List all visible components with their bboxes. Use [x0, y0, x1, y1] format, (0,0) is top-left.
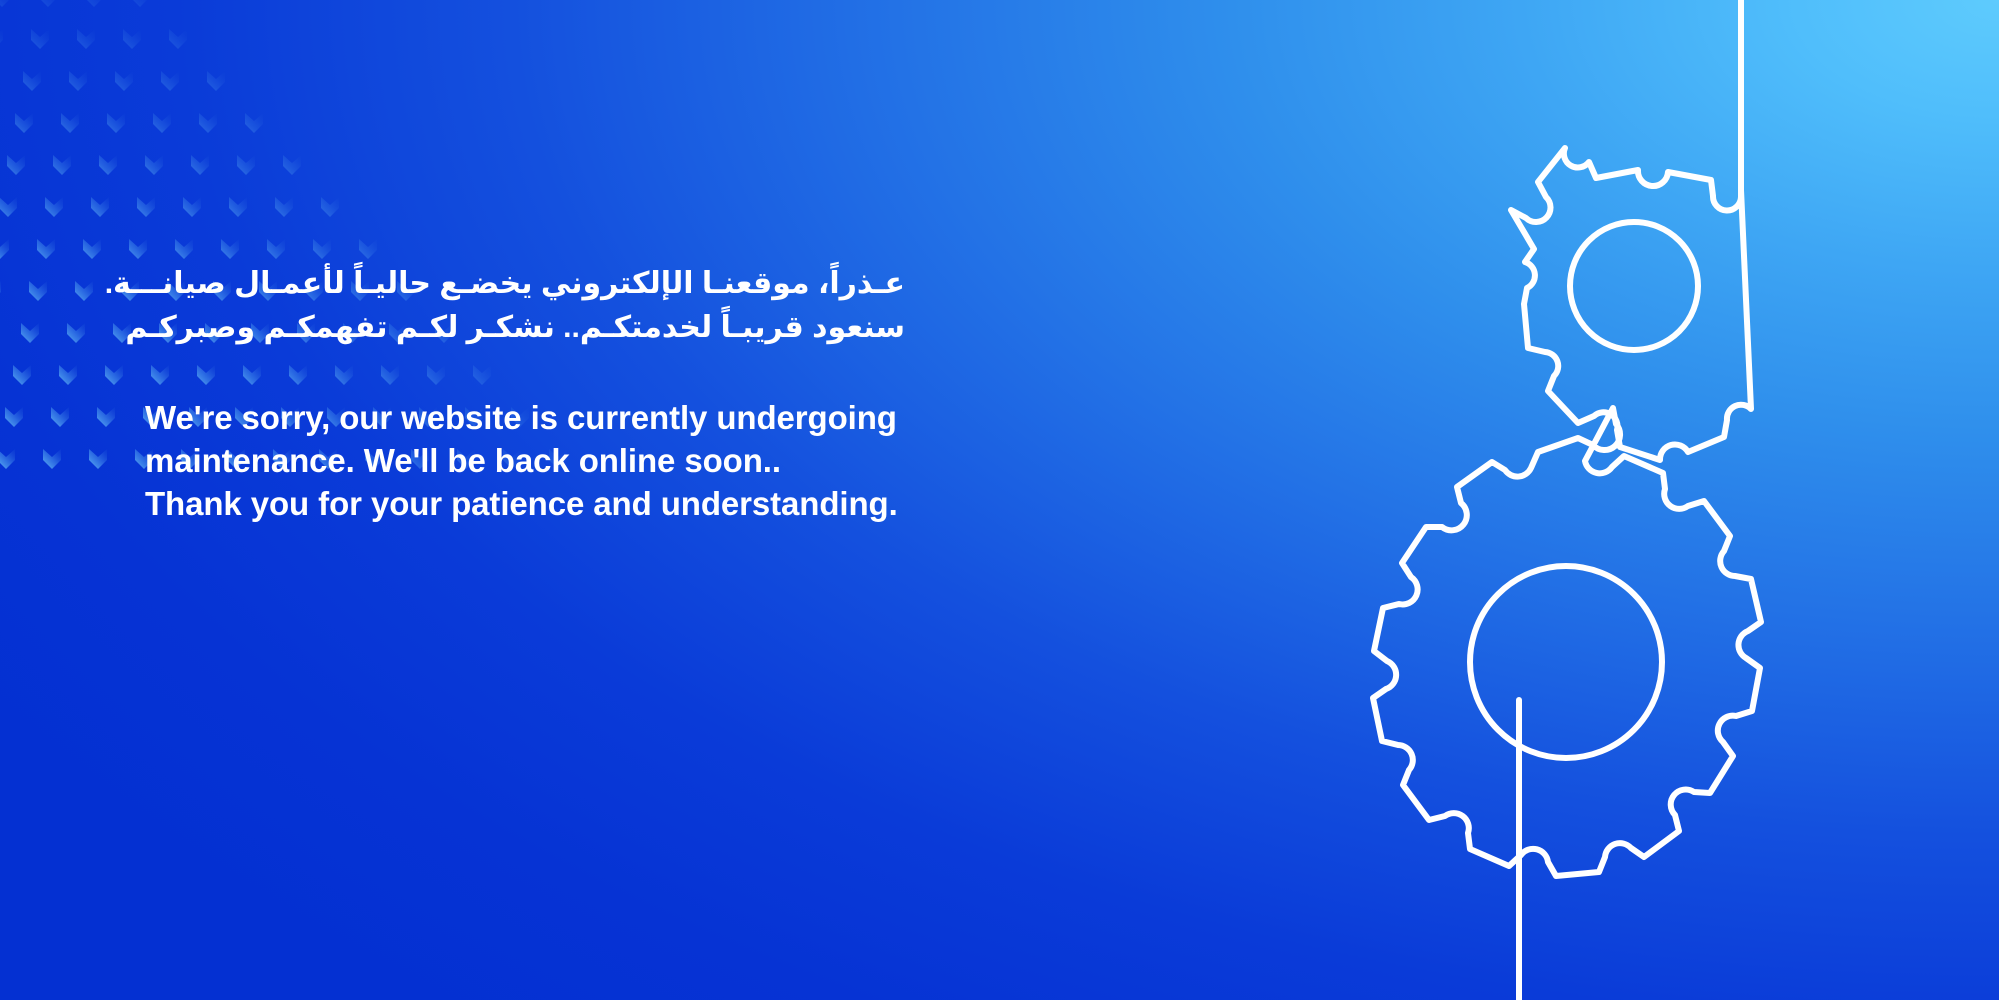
gear-large-hub	[1470, 566, 1662, 758]
arabic-message: عـذراً، موقعنـا الإلكتروني يخضـع حاليـاً…	[145, 262, 905, 350]
english-line-2: maintenance. We'll be back online soon..	[145, 439, 905, 482]
english-message: We're sorry, our website is currently un…	[145, 396, 905, 525]
gear-small-hub	[1570, 222, 1698, 350]
english-line-3: Thank you for your patience and understa…	[145, 482, 905, 525]
english-line-1: We're sorry, our website is currently un…	[145, 396, 905, 439]
maintenance-message-block: عـذراً، موقعنـا الإلكتروني يخضـع حاليـاً…	[145, 262, 905, 525]
gear-small	[1511, 148, 1751, 460]
arabic-line-2: سنعود قريبـاً لخدمتكـم.. نشكـر لكـم تفهم…	[145, 306, 905, 350]
maintenance-page: عـذراً، موقعنـا الإلكتروني يخضـع حاليـاً…	[0, 0, 1999, 1000]
arabic-line-1: عـذراً، موقعنـا الإلكتروني يخضـع حاليـاً…	[145, 262, 905, 306]
gear-illustration	[960, 0, 1999, 1000]
gear-large	[1373, 408, 1761, 876]
